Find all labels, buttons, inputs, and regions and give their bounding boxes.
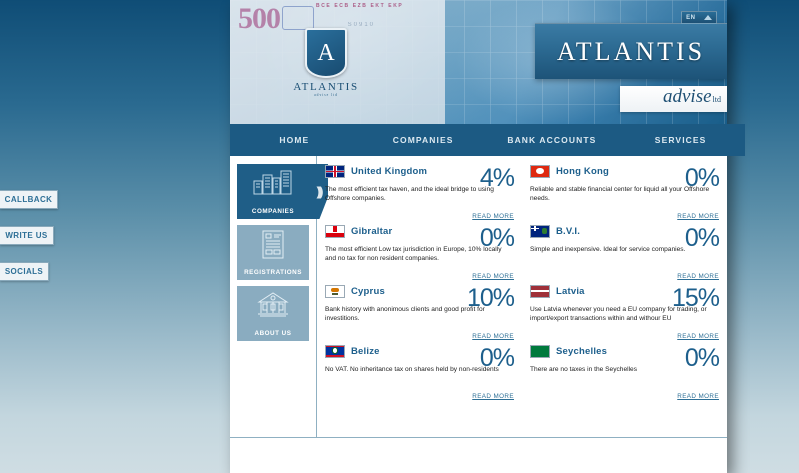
brand-ltd-suffix: ltd <box>713 95 721 104</box>
write-us-tab-label: WRITE US <box>5 231 47 240</box>
belize-flag-icon <box>325 345 345 358</box>
brand-title: ATLANTIS <box>557 37 705 67</box>
category-sidebar: COMPANIES ))) REGISTRATIONS <box>230 156 317 437</box>
jurisdiction-card-cyprus[interactable]: Cyprus 10% Bank history with anonimous c… <box>325 282 514 342</box>
page-footer <box>230 437 727 473</box>
jurisdiction-name: Gibraltar <box>351 226 392 237</box>
banknote-denomination: 500 <box>238 2 280 36</box>
sidebar-item-about-us[interactable]: ABOUT US <box>237 286 309 341</box>
eu-stars-icon <box>282 6 314 30</box>
sidebar-item-registrations-label: REGISTRATIONS <box>244 269 302 276</box>
jurisdiction-card-latvia[interactable]: Latvia 15% Use Latvia whenever you need … <box>530 282 719 342</box>
belize-emblem <box>332 347 338 354</box>
main-content: COMPANIES ))) REGISTRATIONS <box>230 156 727 437</box>
read-more-link[interactable]: READ MORE <box>472 333 514 340</box>
cyprus-flag-icon <box>325 285 345 298</box>
jurisdiction-description: No VAT. No inheritance tax on shares hel… <box>325 366 514 375</box>
jurisdiction-name: Cyprus <box>351 286 385 297</box>
read-more-link[interactable]: READ MORE <box>677 393 719 400</box>
logo-letter: A <box>317 41 334 65</box>
write-us-tab[interactable]: WRITE US <box>0 226 54 245</box>
socials-tab[interactable]: SOCIALS <box>0 262 49 281</box>
language-selector[interactable]: EN <box>681 11 717 24</box>
jurisdiction-card-belize[interactable]: Belize 0% No VAT. No inheritance tax on … <box>325 342 514 402</box>
bvi-emblem <box>542 228 547 234</box>
jurisdiction-name: Seychelles <box>556 346 607 357</box>
bank-building-icon <box>237 291 309 319</box>
sidebar-item-about-us-label: ABOUT US <box>255 330 292 337</box>
chevron-up-icon <box>704 15 712 20</box>
document-icon <box>237 230 309 260</box>
read-more-link[interactable]: READ MORE <box>472 273 514 280</box>
read-more-link[interactable]: READ MORE <box>677 213 719 220</box>
read-more-link[interactable]: READ MORE <box>677 333 719 340</box>
jurisdiction-description: The most efficient tax haven, and the id… <box>325 186 514 204</box>
jurisdiction-name: Hong Kong <box>556 166 609 177</box>
jurisdiction-card-united-kingdom[interactable]: United Kingdom 4% The most efficient tax… <box>325 162 514 222</box>
atlantis-logo[interactable]: A ATLANTIS advise ltd <box>292 28 360 97</box>
jurisdiction-column-right: Hong Kong 0% Reliable and stable financi… <box>522 162 727 437</box>
uk-flag-icon <box>325 165 345 178</box>
language-label: EN <box>686 15 695 21</box>
side-tab-strip: CALLBACK WRITE US SOCIALS <box>0 190 60 298</box>
jurisdiction-description: Reliable and stable financial center for… <box>530 186 719 204</box>
site-banner: 500 BCE ECB EZB EKT EKP S0910 A ATLANTIS… <box>230 0 727 124</box>
latvia-flag-icon <box>530 285 550 298</box>
jurisdiction-description: There are no taxes in the Seychelles <box>530 366 719 375</box>
sidebar-item-registrations[interactable]: REGISTRATIONS <box>237 225 309 280</box>
logo-wordmark: ATLANTIS <box>292 81 360 93</box>
jurisdiction-name: United Kingdom <box>351 166 427 177</box>
jurisdiction-grid: United Kingdom 4% The most efficient tax… <box>317 156 727 437</box>
nav-item-services[interactable]: SERVICES <box>616 135 745 145</box>
jurisdiction-name: Latvia <box>556 286 585 297</box>
page-shell: 500 BCE ECB EZB EKT EKP S0910 A ATLANTIS… <box>230 0 727 473</box>
nav-item-home[interactable]: HOME <box>230 135 359 145</box>
jurisdiction-name: Belize <box>351 346 380 357</box>
jurisdiction-description: The most efficient Low tax jurisdiction … <box>325 246 514 264</box>
banknote-bce-text: BCE ECB EZB EKT EKP <box>316 3 403 9</box>
read-more-link[interactable]: READ MORE <box>472 213 514 220</box>
brand-subtitle-plate: adviseltd <box>620 86 727 112</box>
sidebar-item-companies[interactable]: COMPANIES ))) <box>237 164 309 219</box>
sidebar-item-companies-label: COMPANIES <box>252 208 294 215</box>
jurisdiction-card-bvi[interactable]: B.V.I. 0% Simple and inexpensive. Ideal … <box>530 222 719 282</box>
jurisdiction-description: Bank history with anonimous clients and … <box>325 306 514 324</box>
nav-item-companies[interactable]: COMPANIES <box>359 135 488 145</box>
shield-icon: A <box>305 28 347 78</box>
jurisdiction-description: Use Latvia whenever you need a EU compan… <box>530 306 719 324</box>
jurisdiction-card-seychelles[interactable]: Seychelles 0% There are no taxes in the … <box>530 342 719 402</box>
read-more-link[interactable]: READ MORE <box>677 273 719 280</box>
brand-plate: ATLANTIS <box>535 23 727 79</box>
bvi-flag-icon <box>530 225 550 238</box>
hongkong-flag-icon <box>530 165 550 178</box>
jurisdiction-description: Simple and inexpensive. Ideal for servic… <box>530 246 719 255</box>
jurisdiction-column-left: United Kingdom 4% The most efficient tax… <box>317 162 522 437</box>
logo-subtext: advise ltd <box>292 93 360 97</box>
brand-subtitle: advise <box>663 86 712 108</box>
nav-item-bank-accounts[interactable]: BANK ACCOUNTS <box>488 135 617 145</box>
buildings-icon <box>237 169 309 195</box>
read-more-link[interactable]: READ MORE <box>472 393 514 400</box>
jurisdiction-name: B.V.I. <box>556 226 580 237</box>
gibraltar-flag-icon <box>325 225 345 238</box>
callback-tab[interactable]: CALLBACK <box>0 190 58 209</box>
jurisdiction-card-gibraltar[interactable]: Gibraltar 0% The most efficient Low tax … <box>325 222 514 282</box>
main-navigation: HOME COMPANIES BANK ACCOUNTS SERVICES <box>230 124 745 156</box>
callback-tab-label: CALLBACK <box>5 195 53 204</box>
socials-tab-label: SOCIALS <box>5 267 43 276</box>
seychelles-flag-icon <box>530 345 550 358</box>
jurisdiction-card-hong-kong[interactable]: Hong Kong 0% Reliable and stable financi… <box>530 162 719 222</box>
